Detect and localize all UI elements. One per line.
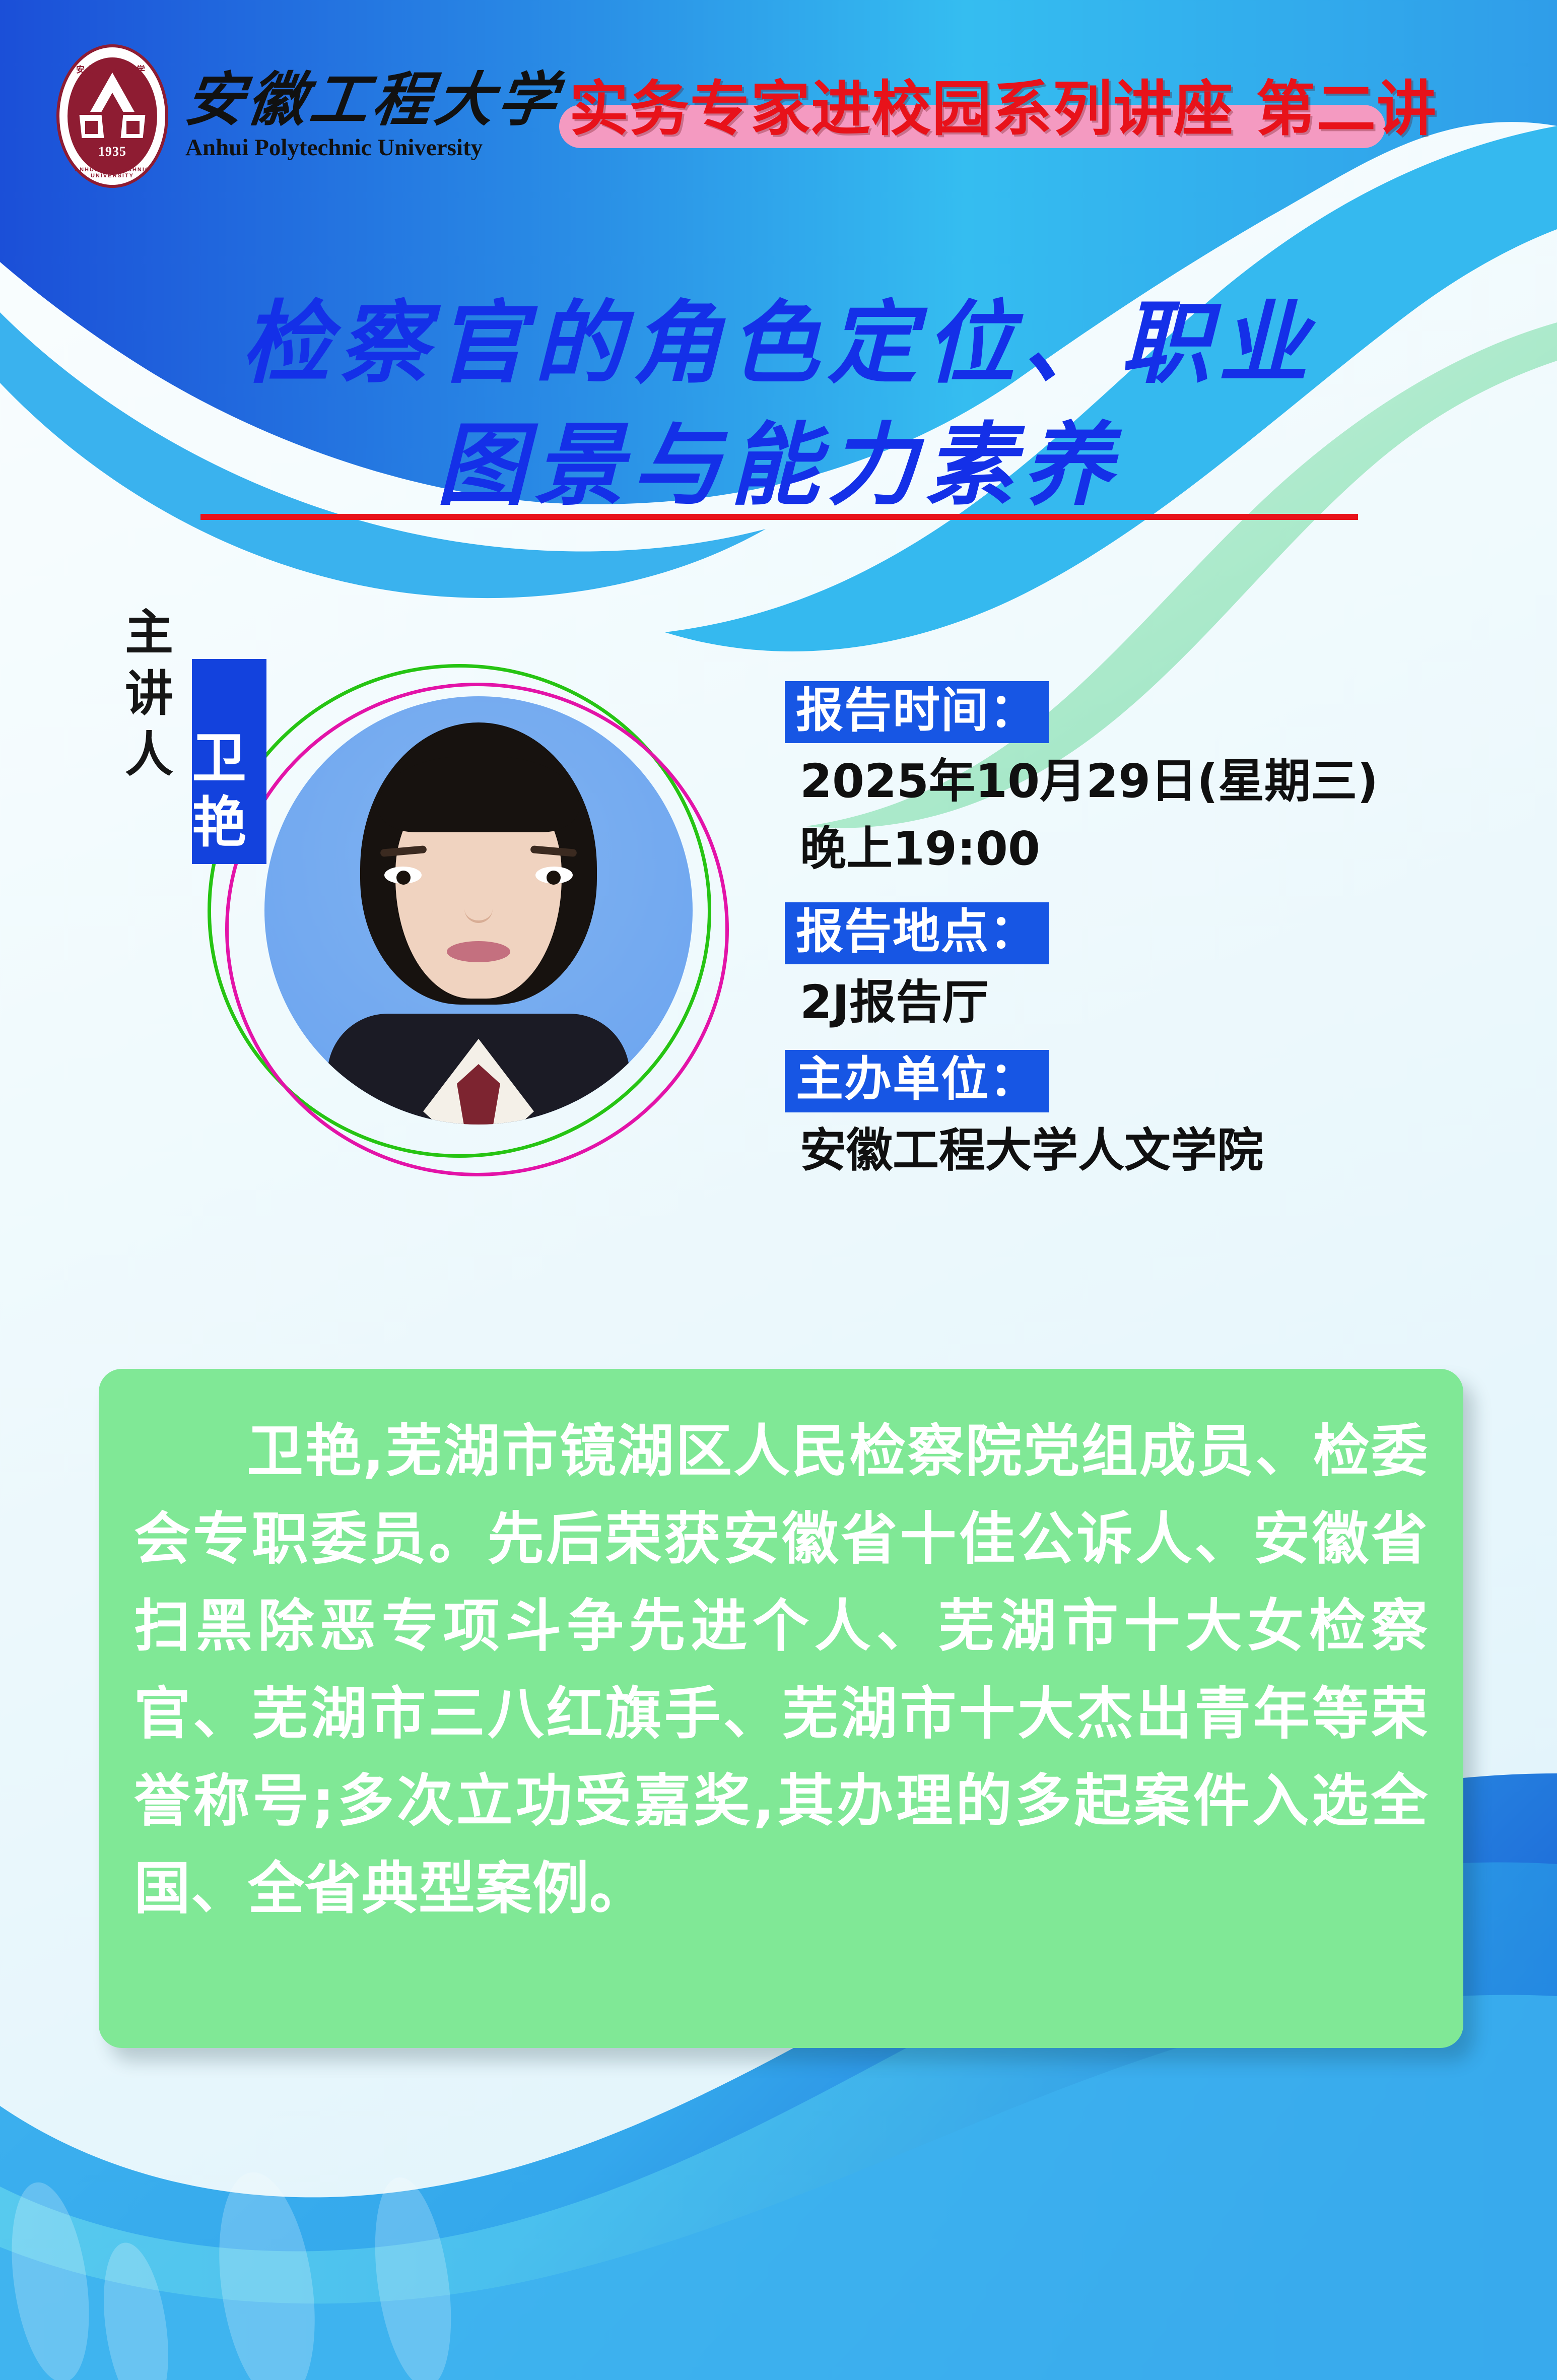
place-value: 2J报告厅	[800, 973, 1378, 1032]
crest-founding-year: 1935	[56, 144, 168, 159]
title-line-1: 检察官的角色定位、职业	[0, 282, 1557, 404]
university-name-cn: 安徽工程大学	[182, 72, 564, 130]
speaker-bio-card: 卫艳,芜湖市镜湖区人民检察院党组成员、检委会专职委员。先后荣获安徽省十佳公诉人、…	[99, 1369, 1463, 2048]
title-line-2: 图景与能力素养	[0, 404, 1557, 526]
crest-english-arc: ANHUI POLYTECHNIC UNIVERSITY	[56, 167, 168, 179]
series-label: 实务专家进校园系列讲座 第二讲	[569, 60, 1437, 147]
place-label: 报告地点：	[785, 902, 1049, 964]
event-info-block: 报告时间： 2025年10月29日(星期三) 晚上19:00 报告地点： 2J报…	[785, 681, 1378, 1179]
poster-canvas: 安徽工程大学 1935 ANHUI POLYTECHNIC UNIVERSITY…	[0, 0, 1557, 2380]
lecture-title: 检察官的角色定位、职业 图景与能力素养	[0, 282, 1557, 526]
host-label: 主办单位：	[785, 1050, 1049, 1112]
university-crest-icon: 安徽工程大学 1935 ANHUI POLYTECHNIC UNIVERSITY	[56, 44, 168, 188]
host-value: 安徽工程大学人文学院	[800, 1121, 1378, 1180]
speaker-bio-text: 卫艳,芜湖市镜湖区人民检察院党组成员、检委会专职委员。先后荣获安徽省十佳公诉人、…	[134, 1408, 1428, 1933]
speaker-portrait-photo	[264, 696, 693, 1125]
speaker-name: 卫艳	[192, 726, 266, 855]
title-underline-rule	[200, 514, 1358, 520]
lecture-series-banner: 实务专家进校园系列讲座 第二讲	[569, 60, 1437, 146]
speaker-name-banner: 卫艳	[192, 659, 266, 864]
time-label: 报告时间：	[785, 681, 1049, 743]
speaker-role-label: 主讲人	[119, 603, 179, 785]
university-name-en: Anhui Polytechnic University	[185, 134, 560, 161]
university-logo: 安徽工程大学 1935 ANHUI POLYTECHNIC UNIVERSITY…	[56, 44, 560, 188]
time-value-hour: 晚上19:00	[800, 820, 1378, 878]
time-value-date: 2025年10月29日(星期三)	[800, 752, 1378, 811]
